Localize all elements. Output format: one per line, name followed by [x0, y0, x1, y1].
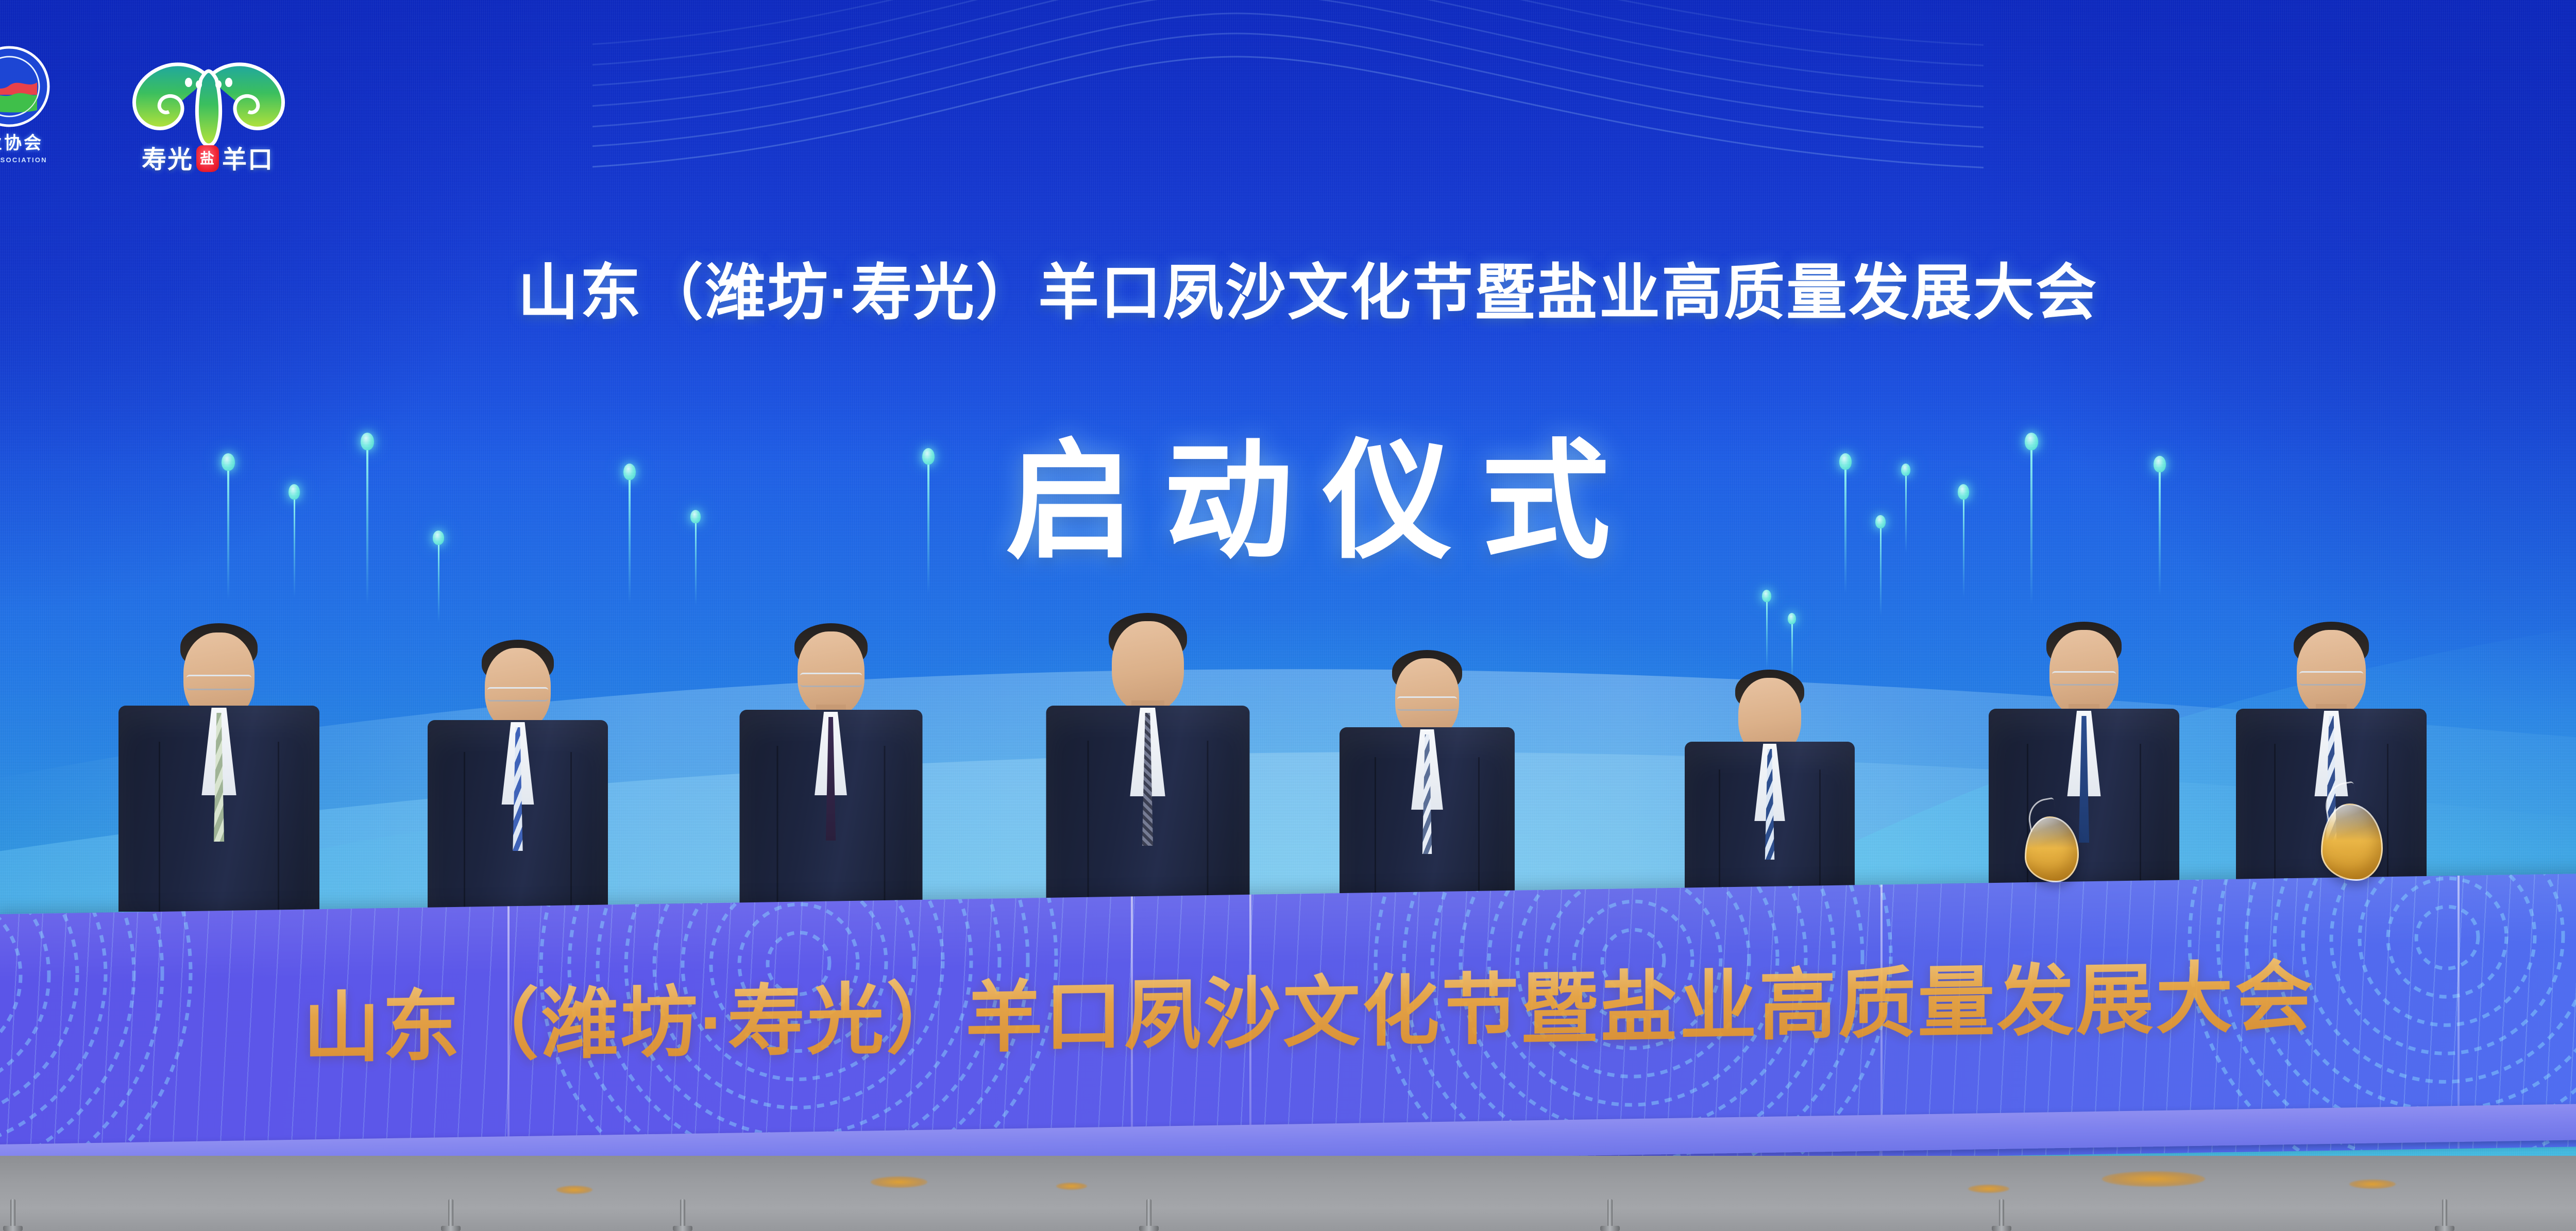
association-name-block: 业协会 Y ASSOCIATION: [0, 129, 58, 164]
green-ram-horns-logo-icon: [124, 62, 294, 149]
podium-leg: [1607, 1199, 1613, 1231]
officials-row: [0, 582, 2576, 912]
official-figure: [118, 623, 319, 912]
vessel-body: [2321, 803, 2383, 881]
ceremony-label: 启动仪式: [0, 397, 2576, 583]
backdrop-top-vignette: [0, 0, 2576, 464]
podium-leg: [1999, 1199, 2004, 1231]
podium-leg: [10, 1199, 15, 1231]
official-figure: [739, 623, 922, 912]
brand-name-block: 寿光羊口: [117, 139, 298, 175]
official-figure: [1046, 613, 1249, 912]
podium-leg: [1146, 1199, 1151, 1231]
floor-gold-spill: [1968, 1185, 2009, 1193]
vessel-body: [2025, 816, 2079, 882]
brand-name-right: 羊口: [222, 146, 274, 174]
floor-gold-spill: [556, 1186, 592, 1194]
brand-name-left: 寿光: [142, 146, 193, 174]
official-figure: [1989, 621, 2179, 912]
floor-gold-spill: [871, 1176, 927, 1188]
floor-gold-spill: [2102, 1171, 2205, 1187]
podium-leg: [680, 1199, 685, 1231]
header-logo-group: 业协会 Y ASSOCIATION 寿光羊口: [0, 0, 330, 149]
gold-vessel-left: [2025, 816, 2079, 882]
stage-floor: [0, 1156, 2576, 1231]
floor-gold-spill: [1056, 1183, 1087, 1190]
brand-seal-icon: [196, 145, 219, 172]
official-figure: [1685, 649, 1855, 912]
association-name-cn: 业协会: [0, 129, 58, 154]
podium-leg: [2442, 1199, 2447, 1231]
circular-association-emblem-icon: [0, 45, 50, 128]
association-name-en: Y ASSOCIATION: [0, 156, 58, 164]
podium-leg: [448, 1199, 453, 1231]
official-figure: [428, 634, 608, 912]
event-main-title: 山东（潍坊·寿光）羊口夙沙文化节暨盐业高质量发展大会: [0, 243, 2576, 331]
gold-vessel-right: [2321, 803, 2383, 881]
official-figure: [1340, 639, 1515, 912]
floor-gold-spill: [2349, 1179, 2396, 1189]
